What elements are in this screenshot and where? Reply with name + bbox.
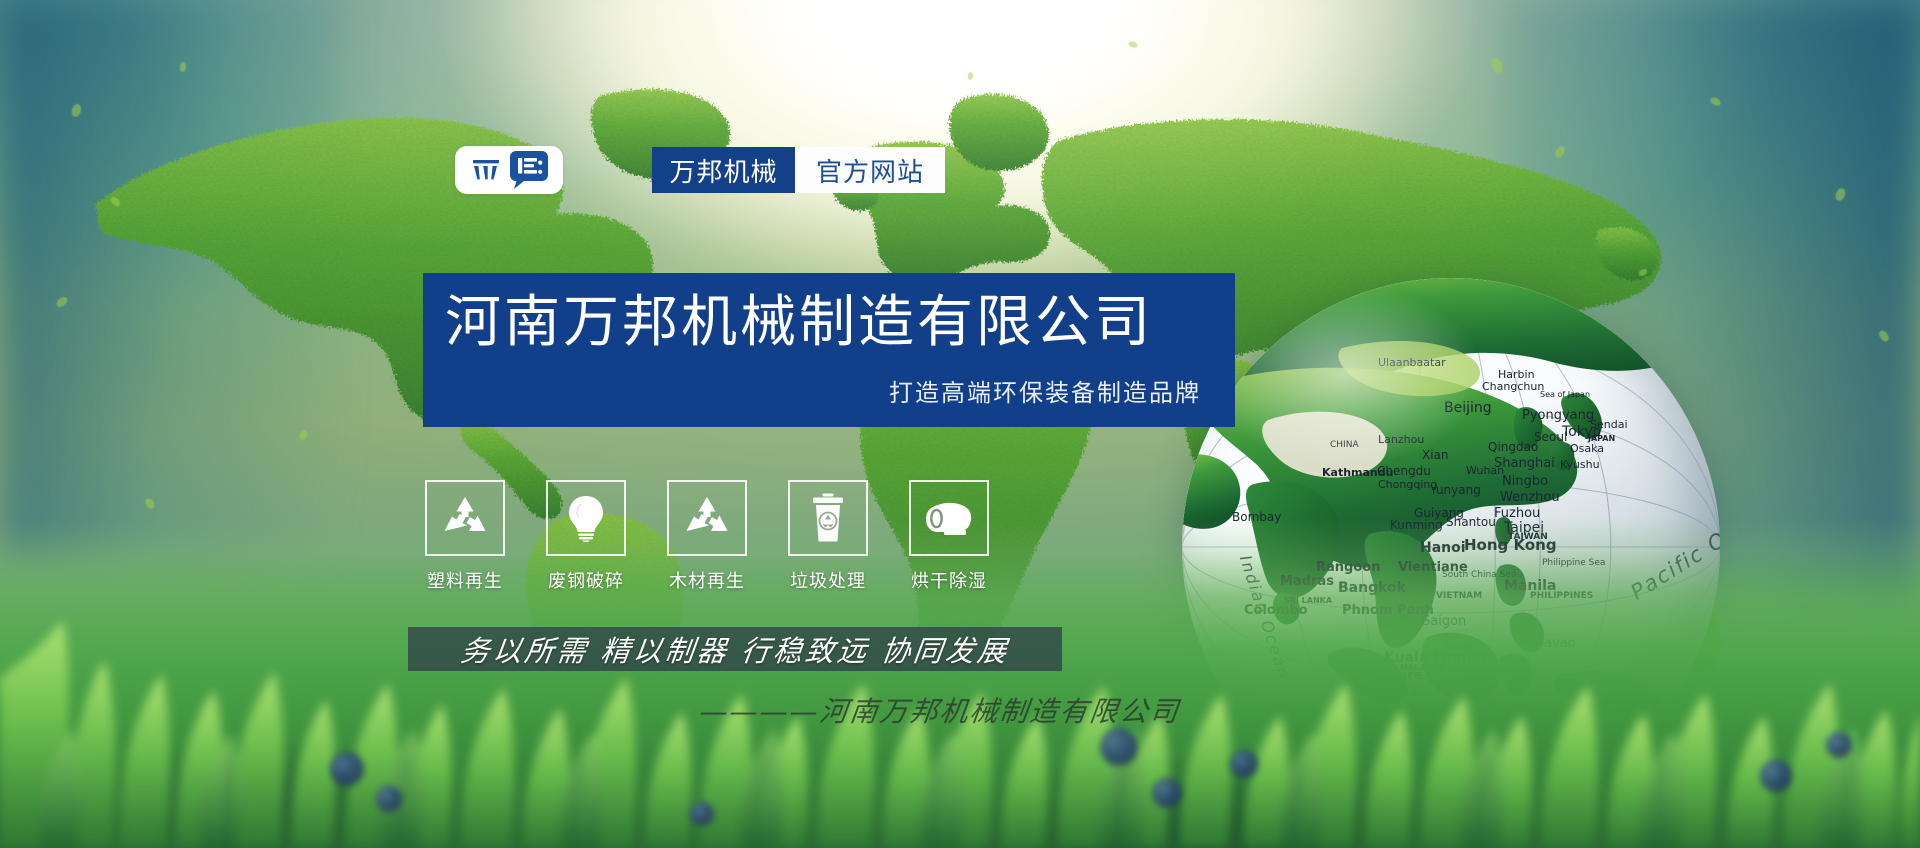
trash-bin-icon <box>809 493 847 543</box>
slogan-text: 务以所需 精以制器 行稳致远 协同发展 <box>458 628 1012 670</box>
page-title: 河南万邦机械制造有限公司 <box>445 295 1201 351</box>
tab-wanbang-jixie[interactable]: 万邦机械 <box>652 147 795 193</box>
tab-guanfang-wangzhan[interactable]: 官方网站 <box>795 147 945 193</box>
hero-banner: UlaanbaatarBeijingLanzhouXianChengduKath… <box>0 0 1920 848</box>
feature-plastic-recycling[interactable]: 塑料再生 <box>418 480 512 593</box>
hero-title-panel: 河南万邦机械制造有限公司 打造高端环保装备制造品牌 <box>423 273 1235 427</box>
feature-label: 废钢破碎 <box>548 567 624 593</box>
feature-waste-treatment[interactable]: 垃圾处理 <box>781 480 875 593</box>
page-subtitle: 打造高端环保装备制造品牌 <box>445 373 1201 408</box>
tab-label: 官方网站 <box>816 152 924 189</box>
blower-dryer-icon <box>922 499 976 537</box>
feature-icon-frame <box>425 480 505 556</box>
lightbulb-icon <box>565 494 607 542</box>
feature-icon-frame <box>546 480 626 556</box>
slogan-band: 务以所需 精以制器 行稳致远 协同发展 <box>408 627 1062 671</box>
tab-label: 万邦机械 <box>669 152 777 189</box>
feature-icon-row: 塑料再生 废钢破碎 <box>418 480 996 593</box>
recycle-icon <box>441 495 489 541</box>
feature-icon-frame <box>909 480 989 556</box>
feature-icon-frame <box>788 480 868 556</box>
feature-label: 木材再生 <box>669 567 745 593</box>
feature-wood-recycling[interactable]: 木材再生 <box>660 480 754 593</box>
recycle-icon <box>683 495 731 541</box>
feature-icon-frame <box>667 480 747 556</box>
feature-scrap-steel-shredding[interactable]: 废钢破碎 <box>539 480 633 593</box>
brand-bar: 万邦机械 官方网站 <box>455 146 945 194</box>
wanbang-logo-icon[interactable] <box>455 146 563 194</box>
feature-label: 塑料再生 <box>427 567 503 593</box>
site-nav-tabs[interactable]: 万邦机械 官方网站 <box>652 147 945 193</box>
slogan-attribution: ————河南万邦机械制造有限公司 <box>698 690 1183 730</box>
feature-label: 烘干除湿 <box>911 567 987 593</box>
feature-drying-dehumidifying[interactable]: 烘干除湿 <box>902 480 996 593</box>
feature-label: 垃圾处理 <box>790 567 866 593</box>
